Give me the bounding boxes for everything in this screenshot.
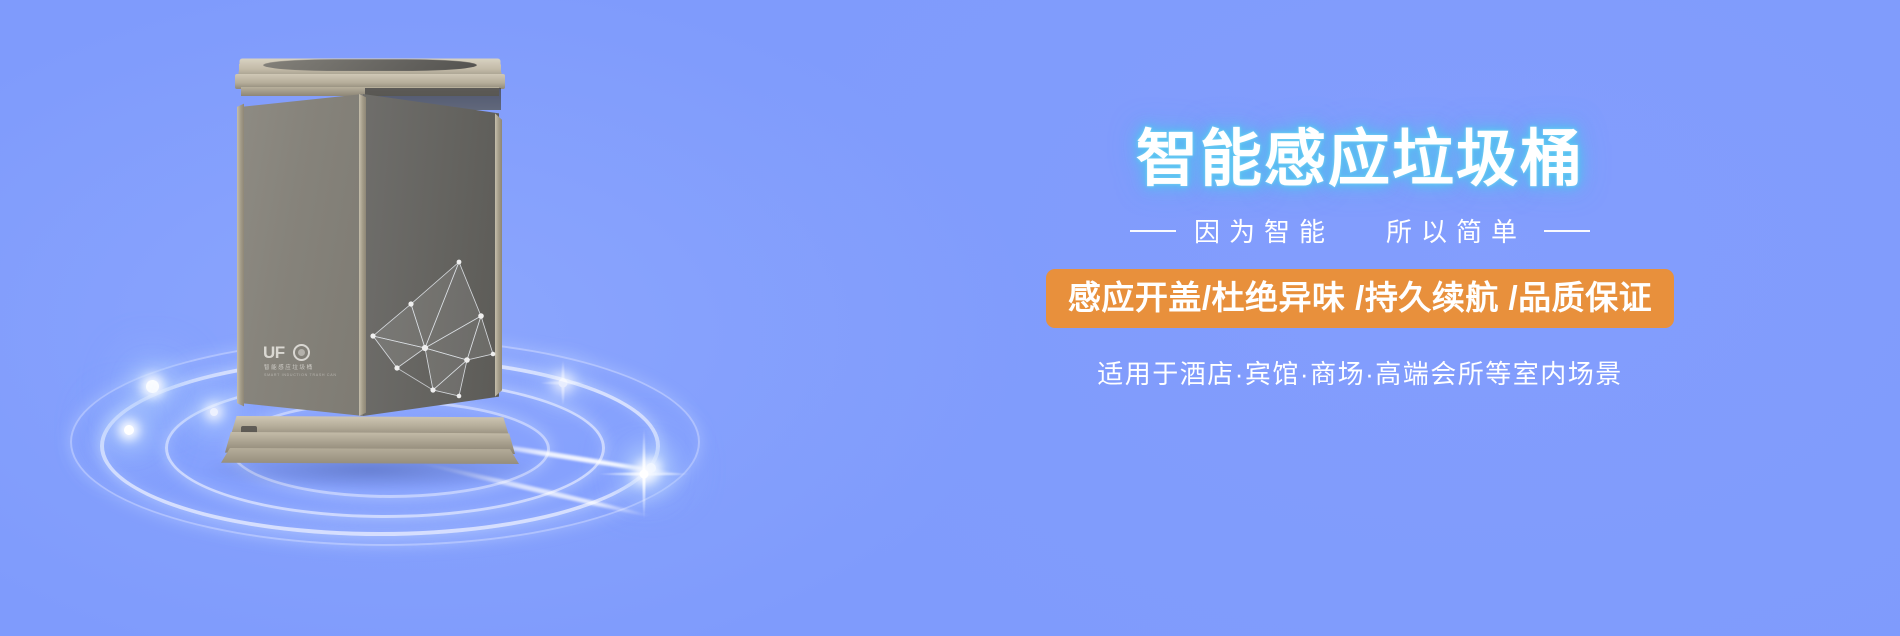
- bin-lid-opening: [263, 59, 477, 71]
- glow-dot-icon: [146, 380, 159, 393]
- product-image-trash-bin: UF 智能感应垃圾桶 SMART INDUCTION TRASH CAN: [235, 58, 505, 458]
- tagline-dash-right: [1544, 230, 1590, 232]
- copy-block: 智能感应垃圾桶 因为智能 所以简单 感应开盖/杜绝异味 /持久续航 /品质保证 …: [880, 120, 1840, 391]
- polygon-network-svg: [363, 244, 501, 414]
- feature-badge: 感应开盖/杜绝异味 /持久续航 /品质保证: [1046, 269, 1674, 328]
- usage-scenarios: 适用于酒店·宾馆·商场·高端会所等室内场景: [880, 354, 1840, 391]
- brand-logo-ring-icon: [293, 344, 310, 361]
- brand-logo-sub: SMART INDUCTION TRASH CAN: [264, 373, 337, 377]
- bin-base-tier-3: [221, 448, 519, 464]
- promo-banner: UF 智能感应垃圾桶 SMART INDUCTION TRASH CAN 智能感…: [0, 0, 1900, 636]
- product-scene: UF 智能感应垃圾桶 SMART INDUCTION TRASH CAN: [60, 30, 760, 590]
- tagline: 因为智能 所以简单: [880, 212, 1840, 249]
- polygon-network-graphic: [363, 244, 501, 414]
- tagline-dash-left: [1130, 230, 1176, 232]
- glow-dot-icon: [124, 425, 134, 435]
- bin-body: UF 智能感应垃圾桶 SMART INDUCTION TRASH CAN: [235, 94, 505, 424]
- brand-logo-ufo: UF 智能感应垃圾桶 SMART INDUCTION TRASH CAN: [263, 344, 345, 390]
- tagline-right-text: 所以简单: [1386, 212, 1526, 249]
- page-title: 智能感应垃圾桶: [880, 120, 1840, 198]
- glow-dot-icon: [210, 408, 218, 416]
- feature-pill-wrap: 感应开盖/杜绝异味 /持久续航 /品质保证: [880, 269, 1840, 328]
- bin-edge-left: [237, 94, 244, 416]
- brand-logo-cn: 智能感应垃圾桶: [264, 363, 314, 371]
- tagline-left-text: 因为智能: [1194, 212, 1334, 249]
